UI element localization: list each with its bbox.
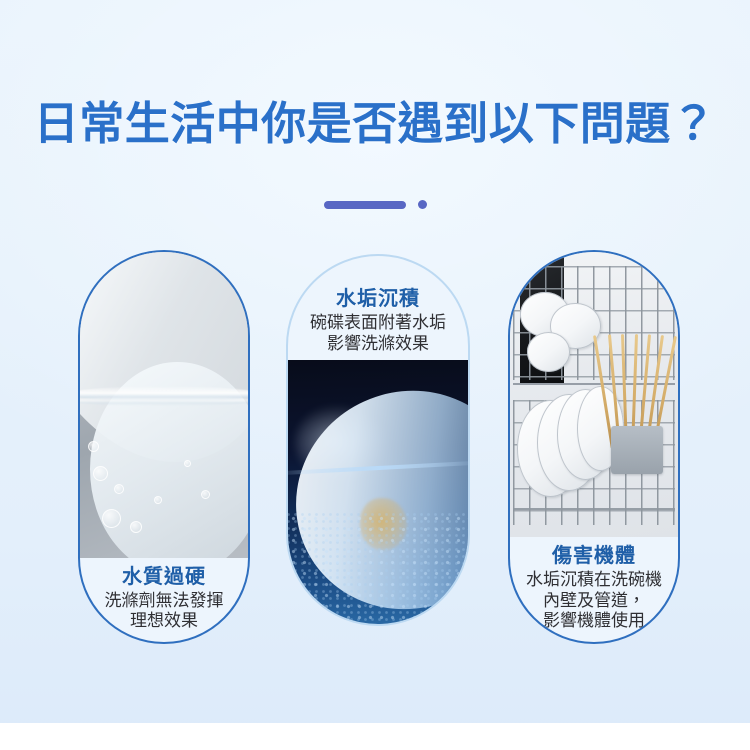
card-water-hardness[interactable]: 水質過硬 洗滌劑無法發揮 理想效果 [78,250,250,644]
problem-card-list: 水質過硬 洗滌劑無法發揮 理想效果 水垢沉積 碗碟表面附著水垢 影響洗滌效果 [0,246,750,656]
card-body: 洗滌劑無法發揮 理想效果 [86,591,242,632]
card-water-hardness-text: 水質過硬 洗滌劑無法發揮 理想效果 [80,558,248,642]
hard-water-plate-image [80,252,248,558]
card-title: 水垢沉積 [294,286,462,311]
card-body: 水垢沉積在洗碗機 內壁及管道， 影響機體使用 [516,570,672,632]
card-scale-deposit[interactable]: 水垢沉積 碗碟表面附著水垢 影響洗滌效果 [286,254,470,626]
poster-root: 日常生活中你是否遇到以下問題？ [0,0,750,750]
card-machine-damage-text: 傷害機體 水垢沉積在洗碗機 內壁及管道， 影響機體使用 [510,537,678,642]
card-scale-deposit-text: 水垢沉積 碗碟表面附著水垢 影響洗滌效果 [288,256,468,354]
divider-dot [418,200,427,209]
card-title: 水質過硬 [86,564,242,589]
title-divider [0,200,750,209]
page-title: 日常生活中你是否遇到以下問題？ [0,100,750,148]
scale-deposit-plate-image [288,360,468,624]
dishwasher-rack-image [510,252,678,537]
divider-bar [324,201,406,209]
card-body: 碗碟表面附著水垢 影響洗滌效果 [294,313,462,354]
card-machine-damage[interactable]: 傷害機體 水垢沉積在洗碗機 內壁及管道， 影響機體使用 [508,250,680,644]
card-title: 傷害機體 [516,543,672,568]
